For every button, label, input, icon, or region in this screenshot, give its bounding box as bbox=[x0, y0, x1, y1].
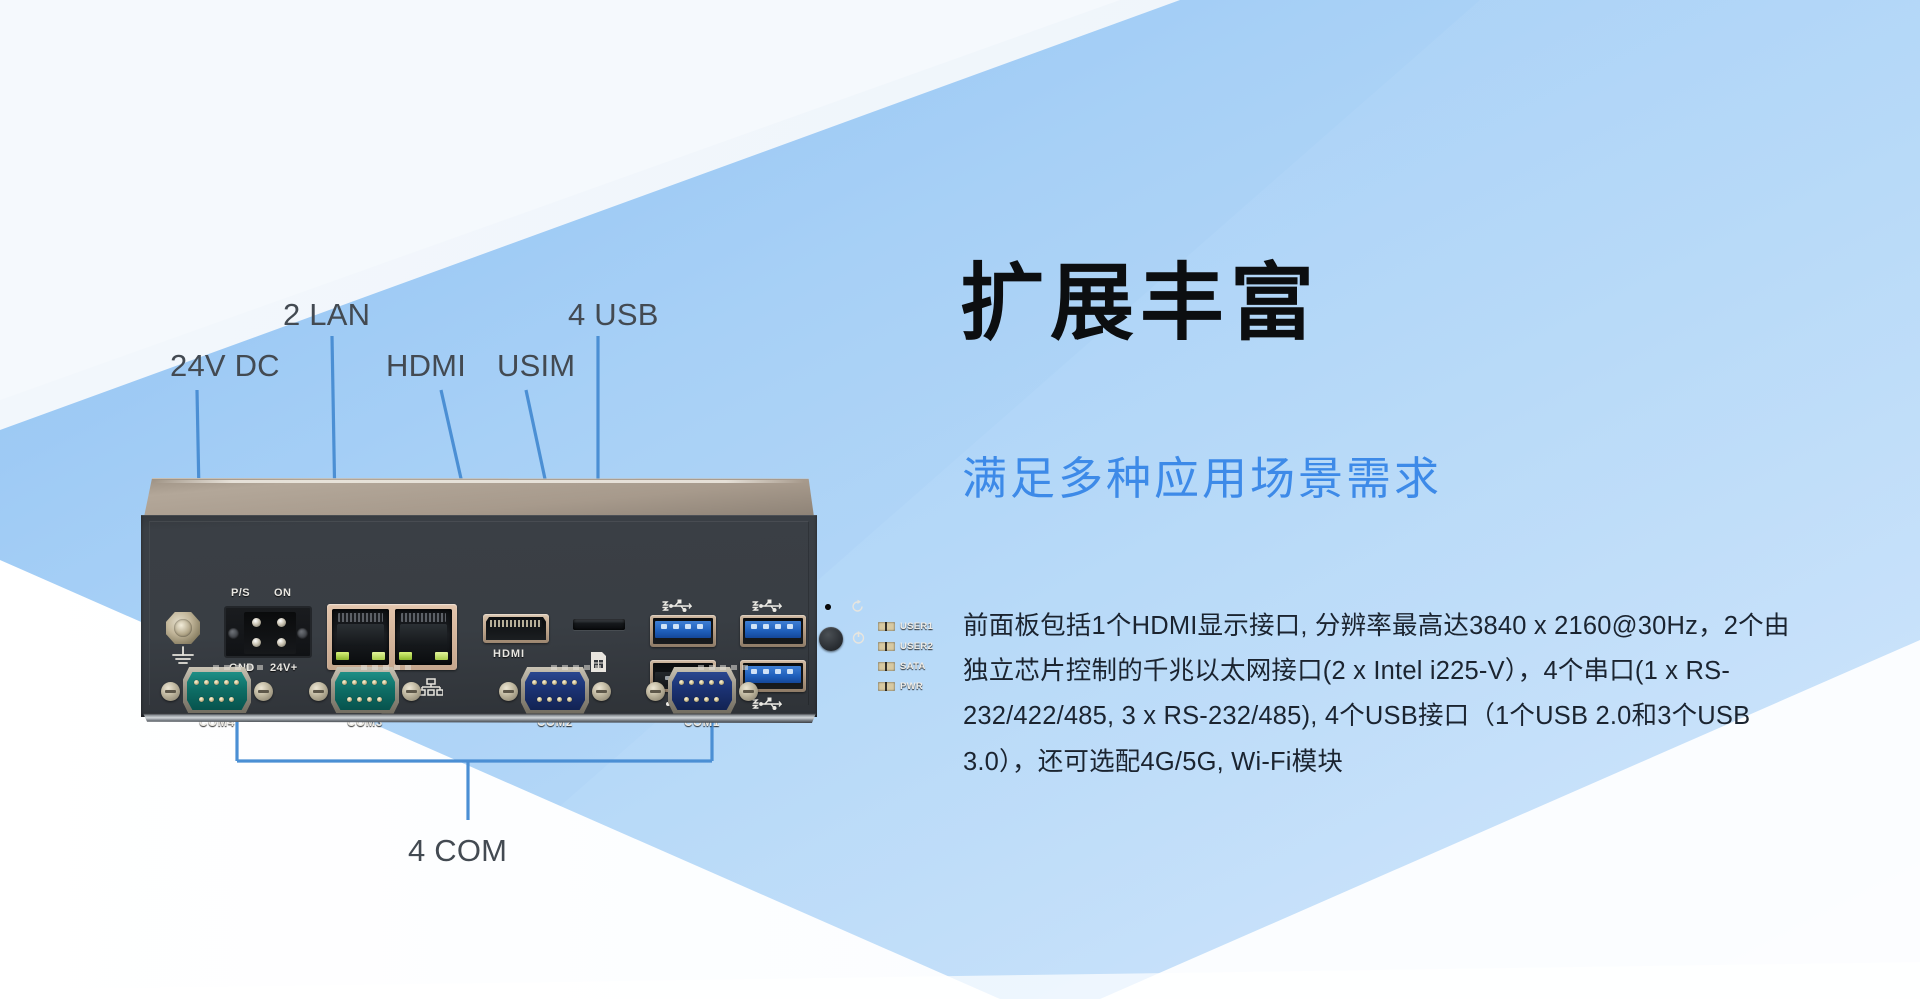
callout-hdmi: HDMI bbox=[386, 348, 466, 384]
db9-face bbox=[335, 672, 395, 710]
db9-pin-row bbox=[199, 697, 234, 702]
terminal-pin bbox=[277, 618, 286, 627]
rj45-contacts bbox=[401, 613, 446, 622]
chassis-top-cover bbox=[144, 478, 814, 517]
db9-pin-row bbox=[537, 697, 572, 702]
led-row: USER1 bbox=[878, 619, 936, 634]
ground-screw-center bbox=[174, 619, 192, 637]
db9-face bbox=[525, 672, 585, 710]
db9-face bbox=[672, 672, 732, 710]
rj45-link-led bbox=[336, 652, 349, 660]
led-indicator-stack: USER1 USER2 SATA PWR bbox=[878, 619, 936, 699]
thumbscrew-left bbox=[646, 682, 665, 701]
db9-pin-row bbox=[194, 680, 239, 685]
usb3-port-top-right bbox=[740, 615, 806, 647]
thumbscrew-right bbox=[254, 682, 273, 701]
db9-pin-row bbox=[532, 680, 577, 685]
led-lamp bbox=[878, 622, 895, 631]
page-subtitle: 满足多种应用场景需求 bbox=[962, 452, 1442, 506]
db9-silk bbox=[698, 665, 750, 670]
marketing-copy-panel: 扩展丰富 满足多种应用场景需求 前面板包括1个HDMI显示接口, 分辨率最高达3… bbox=[960, 0, 1920, 999]
terminal-pins bbox=[244, 612, 296, 654]
superspeed-usb-icon bbox=[662, 598, 692, 612]
led-label: USER2 bbox=[900, 641, 933, 652]
rj45-act-led bbox=[435, 652, 448, 660]
usb-tongue bbox=[745, 621, 801, 638]
hdmi-cavity bbox=[486, 617, 546, 640]
terminal-pin bbox=[252, 638, 261, 647]
led-label: PWR bbox=[900, 681, 923, 692]
thumbscrew-right bbox=[739, 682, 758, 701]
rj45-port-lan1 bbox=[332, 609, 389, 665]
thumbscrew-left bbox=[499, 682, 518, 701]
reset-icon bbox=[850, 599, 865, 614]
led-row: SATA bbox=[878, 659, 936, 674]
silkscreen-ps: P/S bbox=[231, 587, 250, 599]
terminal-pin bbox=[252, 618, 261, 627]
hdmi-contacts bbox=[490, 620, 542, 627]
rj45-body bbox=[400, 624, 447, 646]
dc-power-terminal-block bbox=[224, 606, 312, 658]
thumbscrew-right bbox=[402, 682, 421, 701]
hdmi-port bbox=[483, 614, 549, 643]
led-lamp bbox=[878, 642, 895, 651]
db9-connector bbox=[183, 667, 251, 715]
faceplate: P/S ON GND 24V+ bbox=[141, 515, 817, 717]
db9-pin-row bbox=[342, 680, 387, 685]
power-button[interactable] bbox=[819, 627, 843, 651]
rj45-port-lan2 bbox=[395, 609, 452, 665]
chassis-bottom-lip bbox=[143, 713, 816, 723]
callout-usim: USIM bbox=[497, 348, 575, 384]
page-title: 扩展丰富 bbox=[960, 261, 1320, 345]
usb-cavity bbox=[743, 618, 803, 644]
thumbscrew-right bbox=[592, 682, 611, 701]
product-illustration-panel: 24V DC 2 LAN HDMI USIM 4 USB 4 COM bbox=[0, 0, 960, 999]
usb3-port-top-left bbox=[650, 615, 716, 647]
ethernet-icon bbox=[419, 678, 443, 696]
usb-cavity bbox=[653, 618, 713, 644]
callout-4-usb: 4 USB bbox=[568, 297, 659, 333]
callout-24v-dc: 24V DC bbox=[170, 348, 280, 384]
industrial-pc-front-panel: P/S ON GND 24V+ bbox=[141, 478, 817, 728]
ground-screw bbox=[166, 611, 200, 645]
lan-port-group bbox=[327, 604, 457, 670]
silkscreen-24v: 24V+ bbox=[270, 662, 298, 674]
silkscreen-hdmi: HDMI bbox=[493, 648, 525, 660]
terminal-screw-right bbox=[297, 628, 308, 639]
callout-2-lan: 2 LAN bbox=[283, 297, 370, 333]
terminal-pin bbox=[277, 638, 286, 647]
chassis-highlight bbox=[154, 480, 804, 483]
db9-connector bbox=[331, 667, 399, 715]
power-icon bbox=[851, 630, 866, 645]
thumbscrew-left bbox=[309, 682, 328, 701]
terminal-screw-left bbox=[228, 628, 239, 639]
silkscreen-on: ON bbox=[274, 587, 291, 599]
led-lamp bbox=[878, 662, 895, 671]
led-row: USER2 bbox=[878, 639, 936, 654]
rj45-act-led bbox=[372, 652, 385, 660]
body-paragraph: 前面板包括1个HDMI显示接口, 分辨率最高达3840 x 2160@30Hz，… bbox=[963, 604, 1803, 786]
rj45-link-led bbox=[399, 652, 412, 660]
led-row: PWR bbox=[878, 679, 936, 694]
db9-pin-row bbox=[684, 697, 719, 702]
led-label: USER1 bbox=[900, 621, 933, 632]
callout-4-com: 4 COM bbox=[408, 833, 507, 869]
db9-pin-row bbox=[679, 680, 724, 685]
thumbscrew-left bbox=[161, 682, 180, 701]
db9-pin-row bbox=[347, 697, 382, 702]
rj45-contacts bbox=[338, 613, 383, 622]
db9-connector bbox=[521, 667, 589, 715]
reset-pinhole[interactable] bbox=[825, 604, 831, 610]
db9-silk bbox=[361, 665, 413, 670]
db9-connector bbox=[668, 667, 736, 715]
db9-silk bbox=[213, 665, 265, 670]
led-label: SATA bbox=[900, 661, 926, 672]
led-lamp bbox=[878, 682, 895, 691]
db9-silk bbox=[551, 665, 603, 670]
usb-tongue bbox=[655, 621, 711, 638]
earth-ground-icon bbox=[168, 646, 198, 666]
rj45-body bbox=[337, 624, 384, 646]
db9-face bbox=[187, 672, 247, 710]
usim-card-slot bbox=[573, 619, 625, 630]
superspeed-usb-icon bbox=[752, 598, 782, 612]
